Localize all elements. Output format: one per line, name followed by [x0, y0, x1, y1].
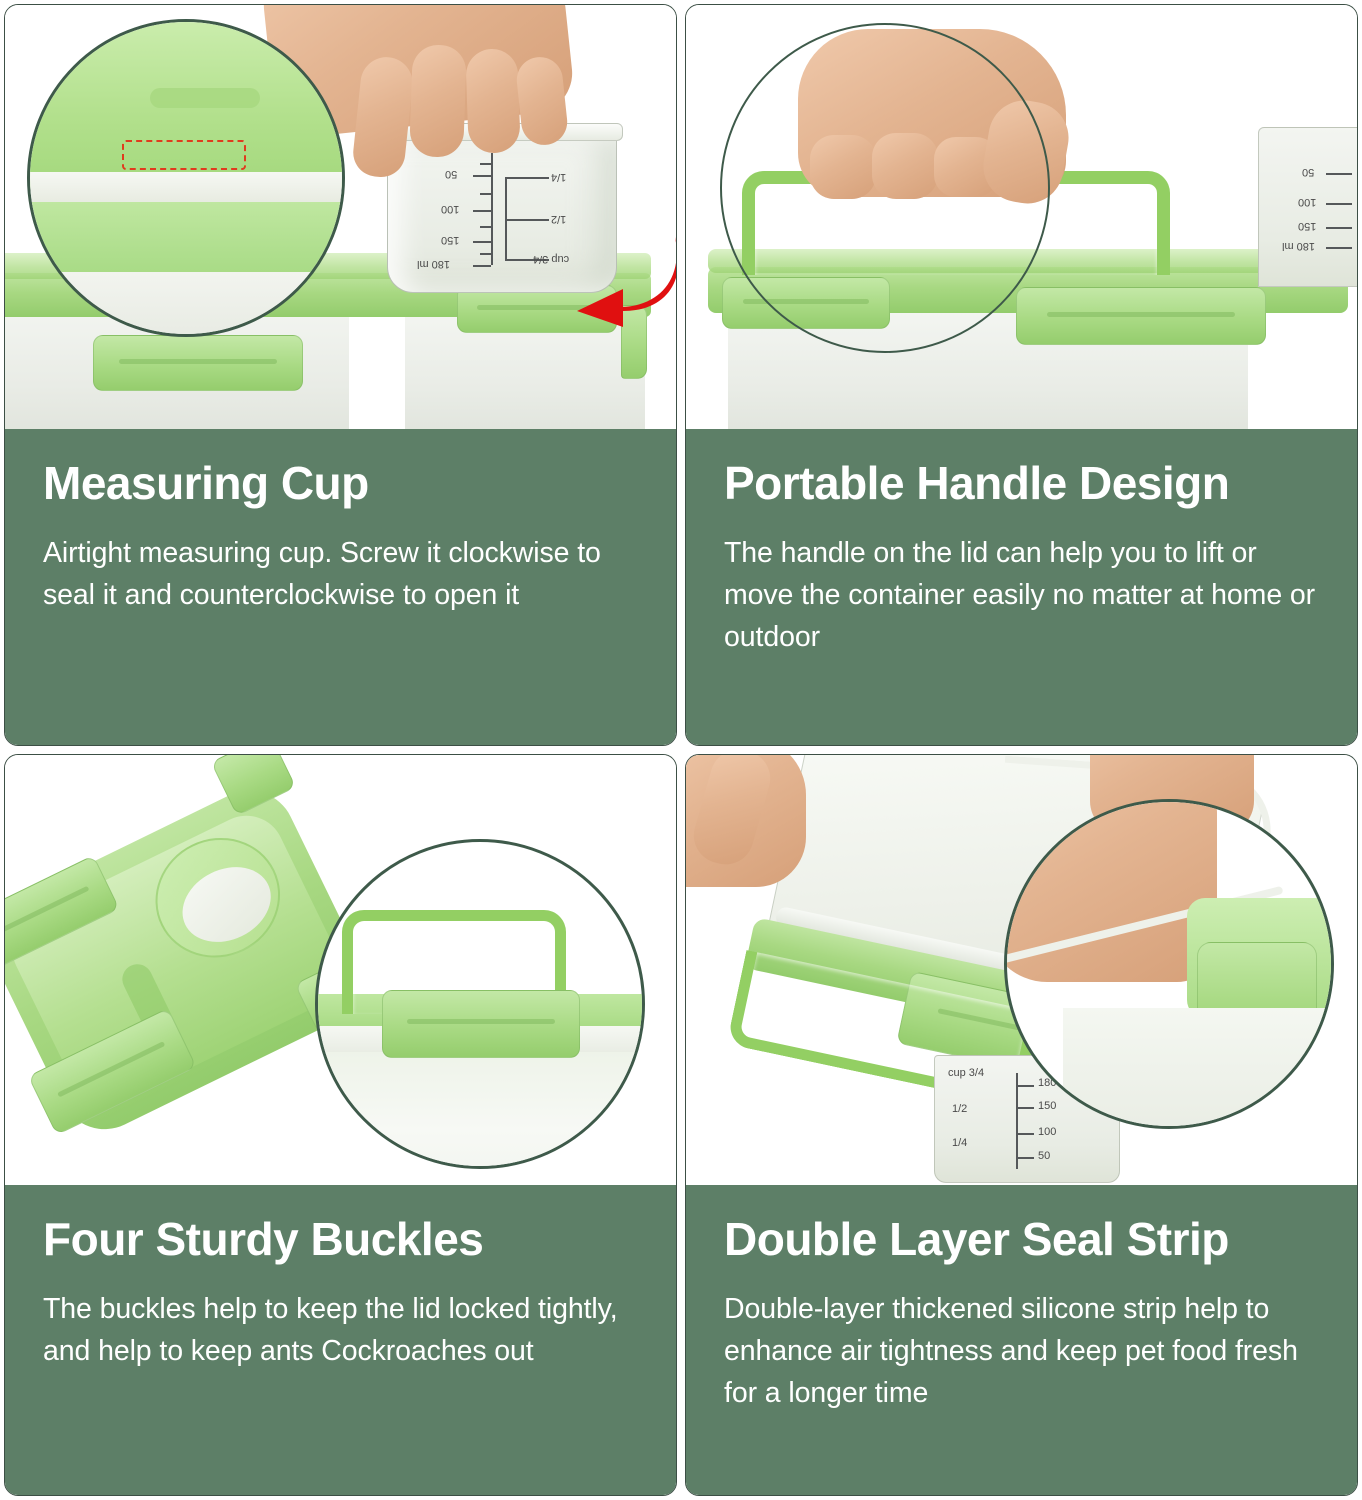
magnifier-inset — [1004, 799, 1334, 1129]
magnifier-content — [1007, 802, 1331, 1126]
panel-body: Double-layer thickened silicone strip he… — [724, 1289, 1319, 1414]
cup-fraction-label-half: 1/2 — [952, 1103, 967, 1115]
panel-body: The handle on the lid can help you to li… — [724, 533, 1319, 658]
cup-minor-tick — [480, 163, 491, 165]
cup-ml-label-50: 50 — [1038, 1150, 1050, 1162]
seal-detail-highlight — [122, 140, 246, 170]
cup-tick — [1326, 203, 1352, 205]
magnifier-inset-buckle — [315, 839, 645, 1169]
cup-tick — [473, 241, 491, 243]
cup-ml-label-50: 50 — [1302, 166, 1314, 178]
grid-cell-2: 50 100 150 180 ml Portable Handle Design… — [681, 0, 1362, 750]
magnifier-inset — [720, 23, 1050, 353]
cup-tick — [473, 210, 491, 212]
finger-ring — [465, 48, 521, 154]
counterclockwise-arrow-icon — [571, 231, 676, 327]
grid-cell-4: 180 ml 150 100 50 cup 3/4 1/2 1/4 — [681, 750, 1362, 1500]
cup-fraction-label-three-quarter: cup 3/4 — [533, 253, 569, 265]
cup-minor-tick — [480, 226, 491, 228]
cup-tick — [1326, 247, 1352, 249]
panel-heading: Measuring Cup — [43, 459, 638, 507]
caption-four-buckles: Four Sturdy Buckles The buckles help to … — [5, 1185, 676, 1495]
product-photo-portable-handle: 50 100 150 180 ml — [686, 5, 1357, 429]
lid-buckle-center — [1016, 287, 1266, 345]
lid-emboss — [150, 88, 260, 108]
finger-middle — [409, 44, 467, 158]
cup-ml-label-50: 50 — [445, 168, 457, 180]
cup-tick — [1326, 227, 1352, 229]
cup-tick — [1326, 173, 1352, 175]
cup-fraction-label-half: 1/2 — [551, 213, 566, 225]
cup-fraction-axis — [505, 177, 507, 259]
lid-buckle-left — [93, 335, 303, 391]
buckle-ridge — [407, 1019, 556, 1024]
cup-ml-label-180: 180 ml — [1282, 240, 1315, 252]
product-photo-seal-strip: 180 ml 150 100 50 cup 3/4 1/2 1/4 — [686, 755, 1357, 1185]
cup-fraction-tick — [505, 219, 549, 221]
cup-tick — [473, 265, 491, 267]
cup-minor-tick — [480, 193, 491, 195]
cup-ml-label-150: 150 — [441, 234, 459, 246]
buckle-ridge — [119, 359, 277, 364]
magnifier-content — [30, 22, 342, 334]
lid-buckle-magnified — [382, 990, 580, 1058]
cup-tick — [1016, 1157, 1034, 1159]
caption-portable-handle: Portable Handle Design The handle on the… — [686, 429, 1357, 745]
grid-cell-1: 50 100 150 180 ml 1/4 1/2 cup 3/4 — [0, 0, 681, 750]
cup-fraction-label-three-quarter: cup 3/4 — [948, 1067, 984, 1079]
cup-scale-axis — [491, 153, 493, 265]
cup-minor-tick — [480, 253, 491, 255]
cup-ml-label-180: 180 ml — [417, 258, 450, 270]
grid-cell-3: Four Sturdy Buckles The buckles help to … — [0, 750, 681, 1500]
panel-heading: Portable Handle Design — [724, 459, 1319, 507]
panel-heading: Four Sturdy Buckles — [43, 1215, 638, 1263]
cup-tick — [473, 175, 491, 177]
caption-seal-strip: Double Layer Seal Strip Double-layer thi… — [686, 1185, 1357, 1495]
panel-heading: Double Layer Seal Strip — [724, 1215, 1319, 1263]
product-photo-measuring-cup: 50 100 150 180 ml 1/4 1/2 cup 3/4 — [5, 5, 676, 429]
cup-ml-label-100: 100 — [441, 203, 459, 215]
caption-measuring-cup: Measuring Cup Airtight measuring cup. Sc… — [5, 429, 676, 745]
cup-ml-label-100: 100 — [1298, 196, 1316, 208]
product-photo-four-buckles — [5, 755, 676, 1185]
magnifier-inset — [27, 19, 345, 337]
feature-panel-four-buckles: Four Sturdy Buckles The buckles help to … — [4, 754, 677, 1496]
feature-panel-measuring-cup: 50 100 150 180 ml 1/4 1/2 cup 3/4 — [4, 4, 677, 746]
feature-panel-portable-handle: 50 100 150 180 ml Portable Handle Design… — [685, 4, 1358, 746]
panel-body: The buckles help to keep the lid locked … — [43, 1289, 638, 1372]
cup-tick — [1016, 1133, 1034, 1135]
cup-fraction-label-quarter: 1/4 — [952, 1137, 967, 1149]
buckle-ridge — [1047, 312, 1236, 317]
magnifier-content — [318, 842, 642, 1166]
cup-fraction-tick — [505, 177, 549, 179]
feature-grid: 50 100 150 180 ml 1/4 1/2 cup 3/4 — [0, 0, 1362, 1500]
cup-ml-label-100: 100 — [1038, 1126, 1056, 1138]
cup-fraction-label-quarter: 1/4 — [551, 171, 566, 183]
feature-panel-seal-strip: 180 ml 150 100 50 cup 3/4 1/2 1/4 — [685, 754, 1358, 1496]
panel-body: Airtight measuring cup. Screw it clockwi… — [43, 533, 638, 616]
cup-ml-label-150: 150 — [1298, 220, 1316, 232]
